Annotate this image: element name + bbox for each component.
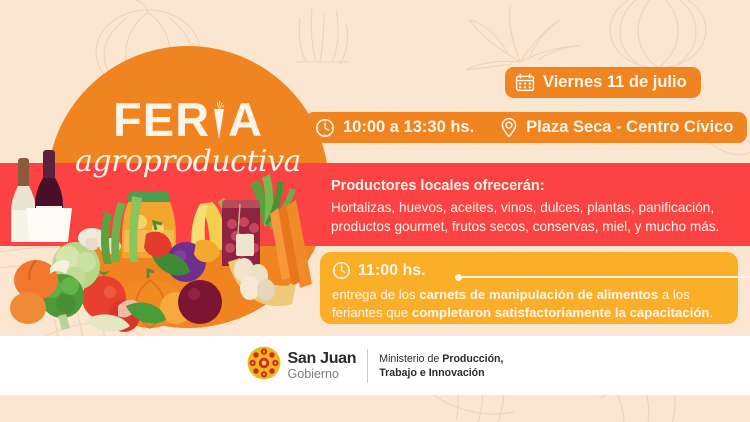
map-pin-icon xyxy=(500,117,518,138)
ministry-bold-2: Trabajo e Innovación xyxy=(379,367,484,379)
clock-icon xyxy=(315,118,335,138)
san-juan-wordmark: San Juan Gobierno xyxy=(288,350,357,382)
training-header: 11:00 hs. xyxy=(332,261,426,280)
products-title: Productores locales ofrecerán: xyxy=(331,176,731,196)
footer-brand-group: San Juan Gobierno Ministerio de Producci… xyxy=(247,346,504,385)
poster-canvas: FERA agroproductiva xyxy=(0,0,750,422)
training-body-part1: entrega de los xyxy=(332,287,419,302)
ministry-bold-1: Producción, xyxy=(442,353,503,365)
calendar-icon xyxy=(515,73,535,92)
products-text-group: Productores locales ofrecerán: Hortaliza… xyxy=(331,176,731,236)
footer-bar: San Juan Gobierno Ministerio de Producci… xyxy=(0,336,750,395)
training-block[interactable]: 11:00 hs. entrega de los carnets de mani… xyxy=(320,252,738,324)
time-place-pill[interactable]: 10:00 a 13:30 hs. Plaza Seca - Centro Cí… xyxy=(305,112,747,143)
ministry-line-1: Ministerio de Producción, xyxy=(379,353,503,365)
logotype-feria: FERA xyxy=(60,96,316,143)
training-body-bold2: completaron satisfactoriamente la capaci… xyxy=(412,305,710,320)
san-juan-mandala-icon xyxy=(247,346,281,385)
clock-icon xyxy=(332,261,351,280)
time-label: 10:00 a 13:30 hs. xyxy=(343,118,474,137)
brand-subtitle: Gobierno xyxy=(288,367,357,382)
wine-bottles-group xyxy=(11,150,72,242)
carrot-icon xyxy=(211,100,227,140)
training-body-bold1: carnets de manipulación de alimentos xyxy=(419,287,658,302)
ministry-text: Ministerio de Producción, Trabajo e Inno… xyxy=(379,352,503,380)
brand-name: San Juan xyxy=(288,350,357,367)
products-line-1: Hortalizas, huevos, aceites, vinos, dulc… xyxy=(331,199,731,218)
herbs-group xyxy=(101,196,142,264)
date-pill[interactable]: Viernes 11 de julio xyxy=(505,67,701,98)
ministry-prefix: Ministerio de xyxy=(379,353,442,365)
produce-illustration xyxy=(0,138,320,338)
date-label: Viernes 11 de julio xyxy=(543,73,687,92)
training-time-label: 11:00 hs. xyxy=(358,262,426,280)
products-line-2: productos gourmet, frutos secos, conserv… xyxy=(331,218,731,237)
training-body-part3: . xyxy=(709,305,713,320)
carrots-group xyxy=(270,200,312,288)
training-body: entrega de los carnets de manipulación d… xyxy=(332,286,732,321)
footer-divider xyxy=(367,349,368,383)
training-header-rule xyxy=(460,276,750,278)
place-label: Plaza Seca - Centro Cívico xyxy=(526,118,733,137)
berry-jar-group xyxy=(222,200,260,266)
